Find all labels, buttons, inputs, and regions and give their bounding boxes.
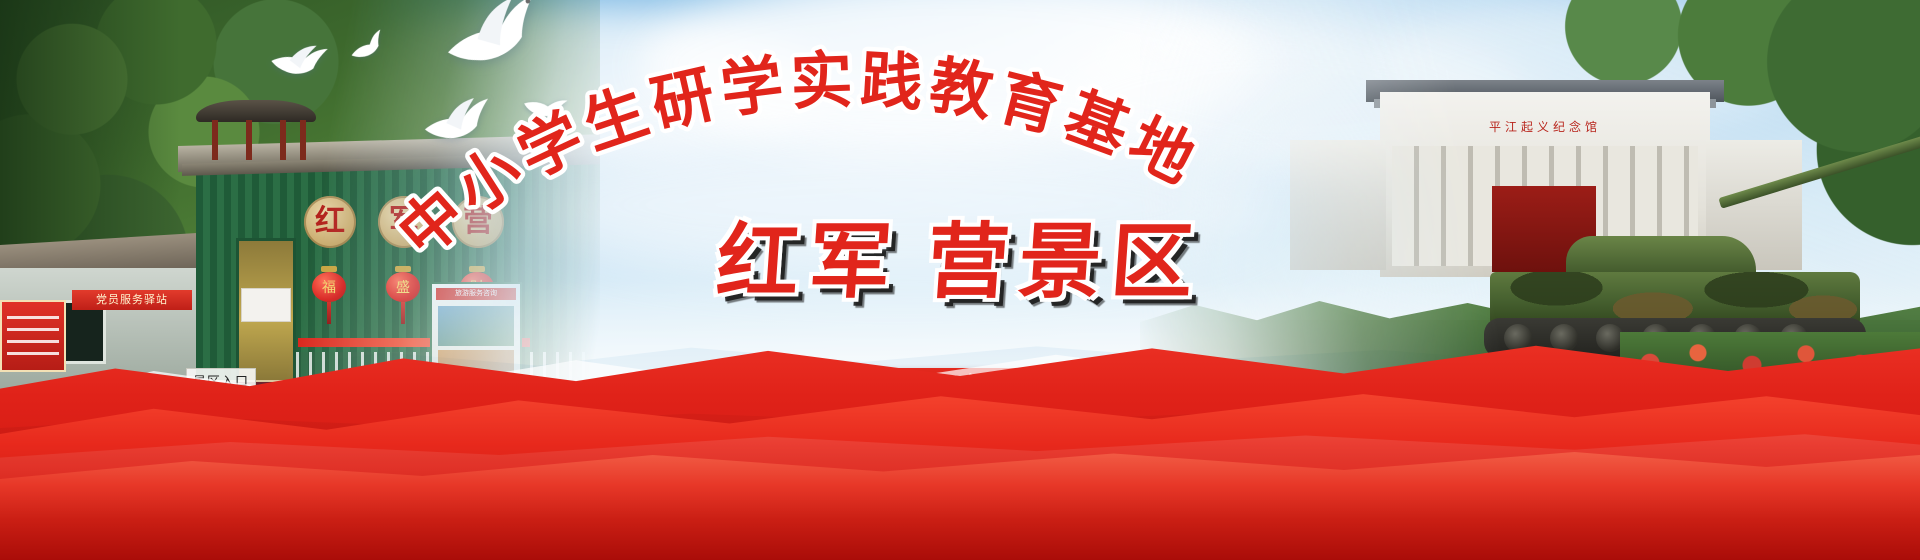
main-title-left: 红军 xyxy=(714,214,905,310)
pavilion-post xyxy=(212,120,218,160)
pavilion-post xyxy=(246,120,252,160)
pavilion-post xyxy=(280,120,286,160)
page-title: 红军营景区 xyxy=(0,214,1920,310)
main-title-right: 营景区 xyxy=(924,214,1207,310)
poster-image-upper xyxy=(438,306,514,346)
tank-wheel xyxy=(1550,324,1578,352)
notice-board-icon xyxy=(0,300,66,372)
memorial-hall-title: 平江起义纪念馆 xyxy=(1402,118,1688,136)
pavilion-post xyxy=(300,120,306,160)
dove-icon xyxy=(418,92,496,145)
scenic-area-banner: 党员服务驿站 红 军 营 福 盛 财 旅游服务咨询 仙姑崖·红军营 景区入口 xyxy=(0,0,1920,560)
pavilion-roof-icon xyxy=(196,100,316,122)
